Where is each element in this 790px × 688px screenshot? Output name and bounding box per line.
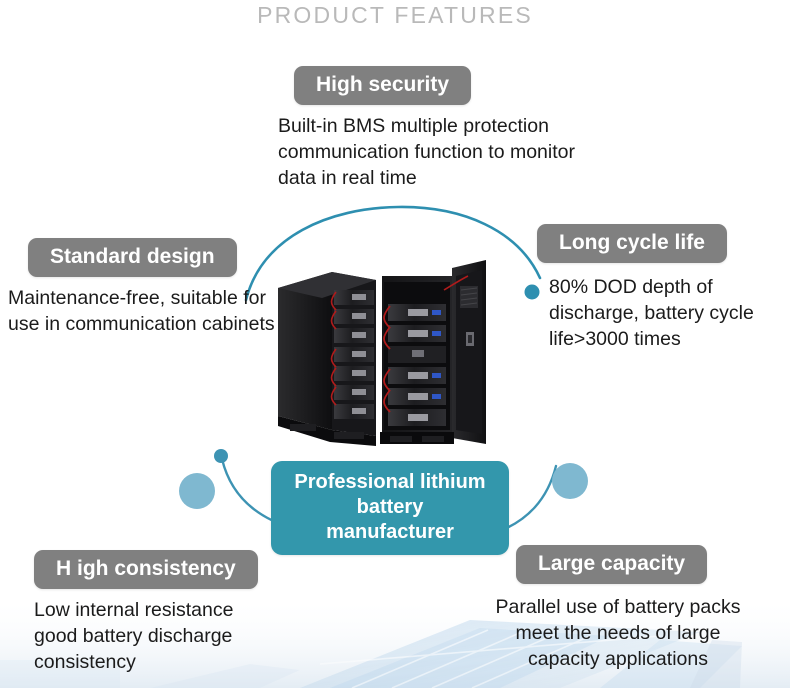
feature-high-security: High security Built-in BMS multiple prot… <box>278 66 608 191</box>
description-large-capacity: Parallel use of battery packs meet the n… <box>473 595 763 672</box>
description-high-consistency: Low internal resistance good battery dis… <box>34 598 304 675</box>
badge-large-capacity[interactable]: Large capacity <box>516 545 707 584</box>
connector-dot-left <box>214 449 228 463</box>
description-high-security: Built-in BMS multiple protection communi… <box>278 114 608 191</box>
battery-modules-left <box>332 290 375 419</box>
feature-large-capacity: Large capacity Parallel use of battery p… <box>473 545 763 672</box>
badge-standard-design[interactable]: Standard design <box>28 238 237 277</box>
feature-long-cycle-life: Long cycle life 80% DOD depth of dischar… <box>537 224 787 352</box>
decorative-circle-right <box>552 463 588 499</box>
description-standard-design: Maintenance-free, suitable for use in co… <box>8 286 276 337</box>
feature-standard-design: Standard design Maintenance-free, suitab… <box>8 238 276 338</box>
badge-professional-lithium-battery-manufacturer[interactable]: Professional lithium battery manufacture… <box>271 461 509 555</box>
product-features-infographic: PRODUCT FEATURES <box>0 0 790 688</box>
decorative-circle-left <box>179 473 215 509</box>
badge-long-cycle-life[interactable]: Long cycle life <box>537 224 727 263</box>
feature-high-consistency: H igh consistency Low internal resistanc… <box>34 550 304 675</box>
central-highlight: Professional lithium battery manufacture… <box>271 461 509 555</box>
badge-high-consistency[interactable]: H igh consistency <box>34 550 258 589</box>
cabinet-left <box>278 272 376 446</box>
description-long-cycle-life: 80% DOD depth of discharge, battery cycl… <box>549 275 787 352</box>
cabinet-right <box>380 260 486 444</box>
battery-cabinet-photo <box>272 246 508 462</box>
badge-high-security[interactable]: High security <box>294 66 471 105</box>
